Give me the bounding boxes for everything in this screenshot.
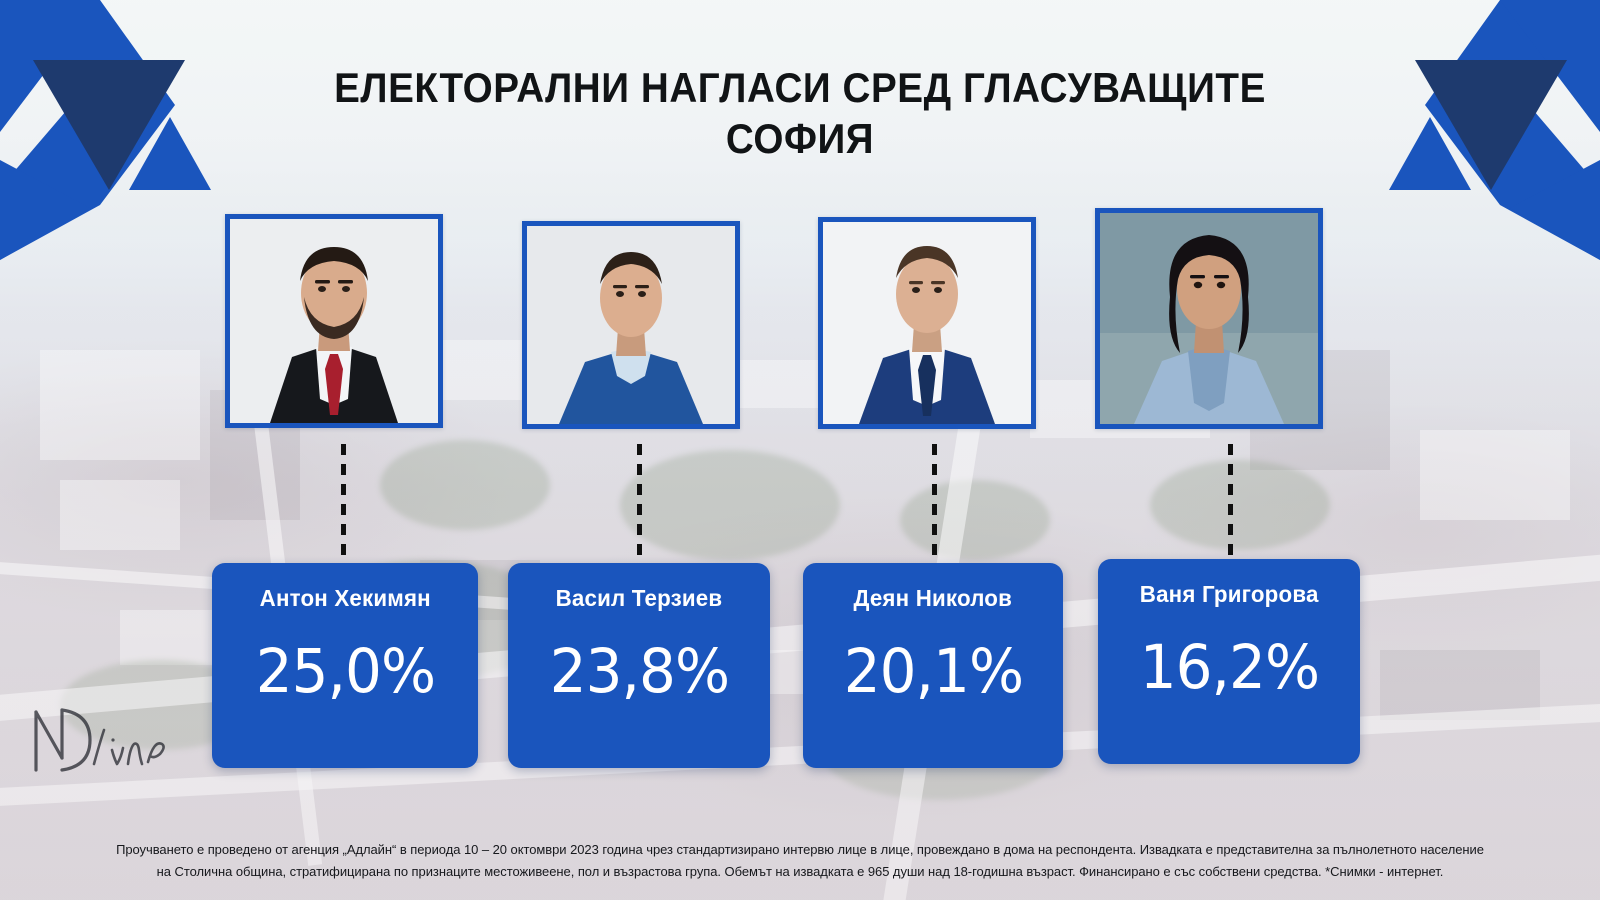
candidate-photo-1[interactable] [225,214,443,428]
candidate-name-1: Антон Хекимян [259,585,430,612]
candidate-photo-3[interactable] [818,217,1036,429]
candidate-percent-1: 25,0% [255,636,434,707]
candidate-name-3: Деян Николов [854,585,1013,612]
candidate-percent-3: 20,1% [843,636,1022,707]
title-line-2: СОФИЯ [64,113,1536,164]
result-card-1[interactable]: Антон Хекимян 25,0% [212,563,478,768]
footnote-line-1: Проучването е проведено от агенция „Адла… [42,839,1559,862]
candidate-name-2: Васил Терзиев [556,585,723,612]
connector-line-2 [637,444,642,562]
result-card-2[interactable]: Васил Терзиев 23,8% [508,563,770,768]
candidate-photo-2[interactable] [522,221,740,429]
footnote-line-2: на Столична община, стратифицирана по пр… [42,861,1559,884]
candidate-photo-4[interactable] [1095,208,1323,429]
result-card-4[interactable]: Ваня Григорова 16,2% [1098,559,1360,764]
candidate-percent-4: 16,2% [1139,632,1318,703]
adline-logo [28,700,203,780]
title-line-1: ЕЛЕКТОРАЛНИ НАГЛАСИ СРЕД ГЛАСУВАЩИТЕ [64,62,1536,113]
candidate-percent-2: 23,8% [549,636,728,707]
connector-line-3 [932,444,937,562]
connector-line-1 [341,444,346,562]
candidate-name-4: Ваня Григорова [1140,581,1319,608]
connector-line-4 [1228,444,1233,562]
footnote: Проучването е проведено от агенция „Адла… [0,839,1600,884]
page-title: ЕЛЕКТОРАЛНИ НАГЛАСИ СРЕД ГЛАСУВАЩИТЕ СОФ… [0,62,1600,164]
result-card-3[interactable]: Деян Николов 20,1% [803,563,1063,768]
